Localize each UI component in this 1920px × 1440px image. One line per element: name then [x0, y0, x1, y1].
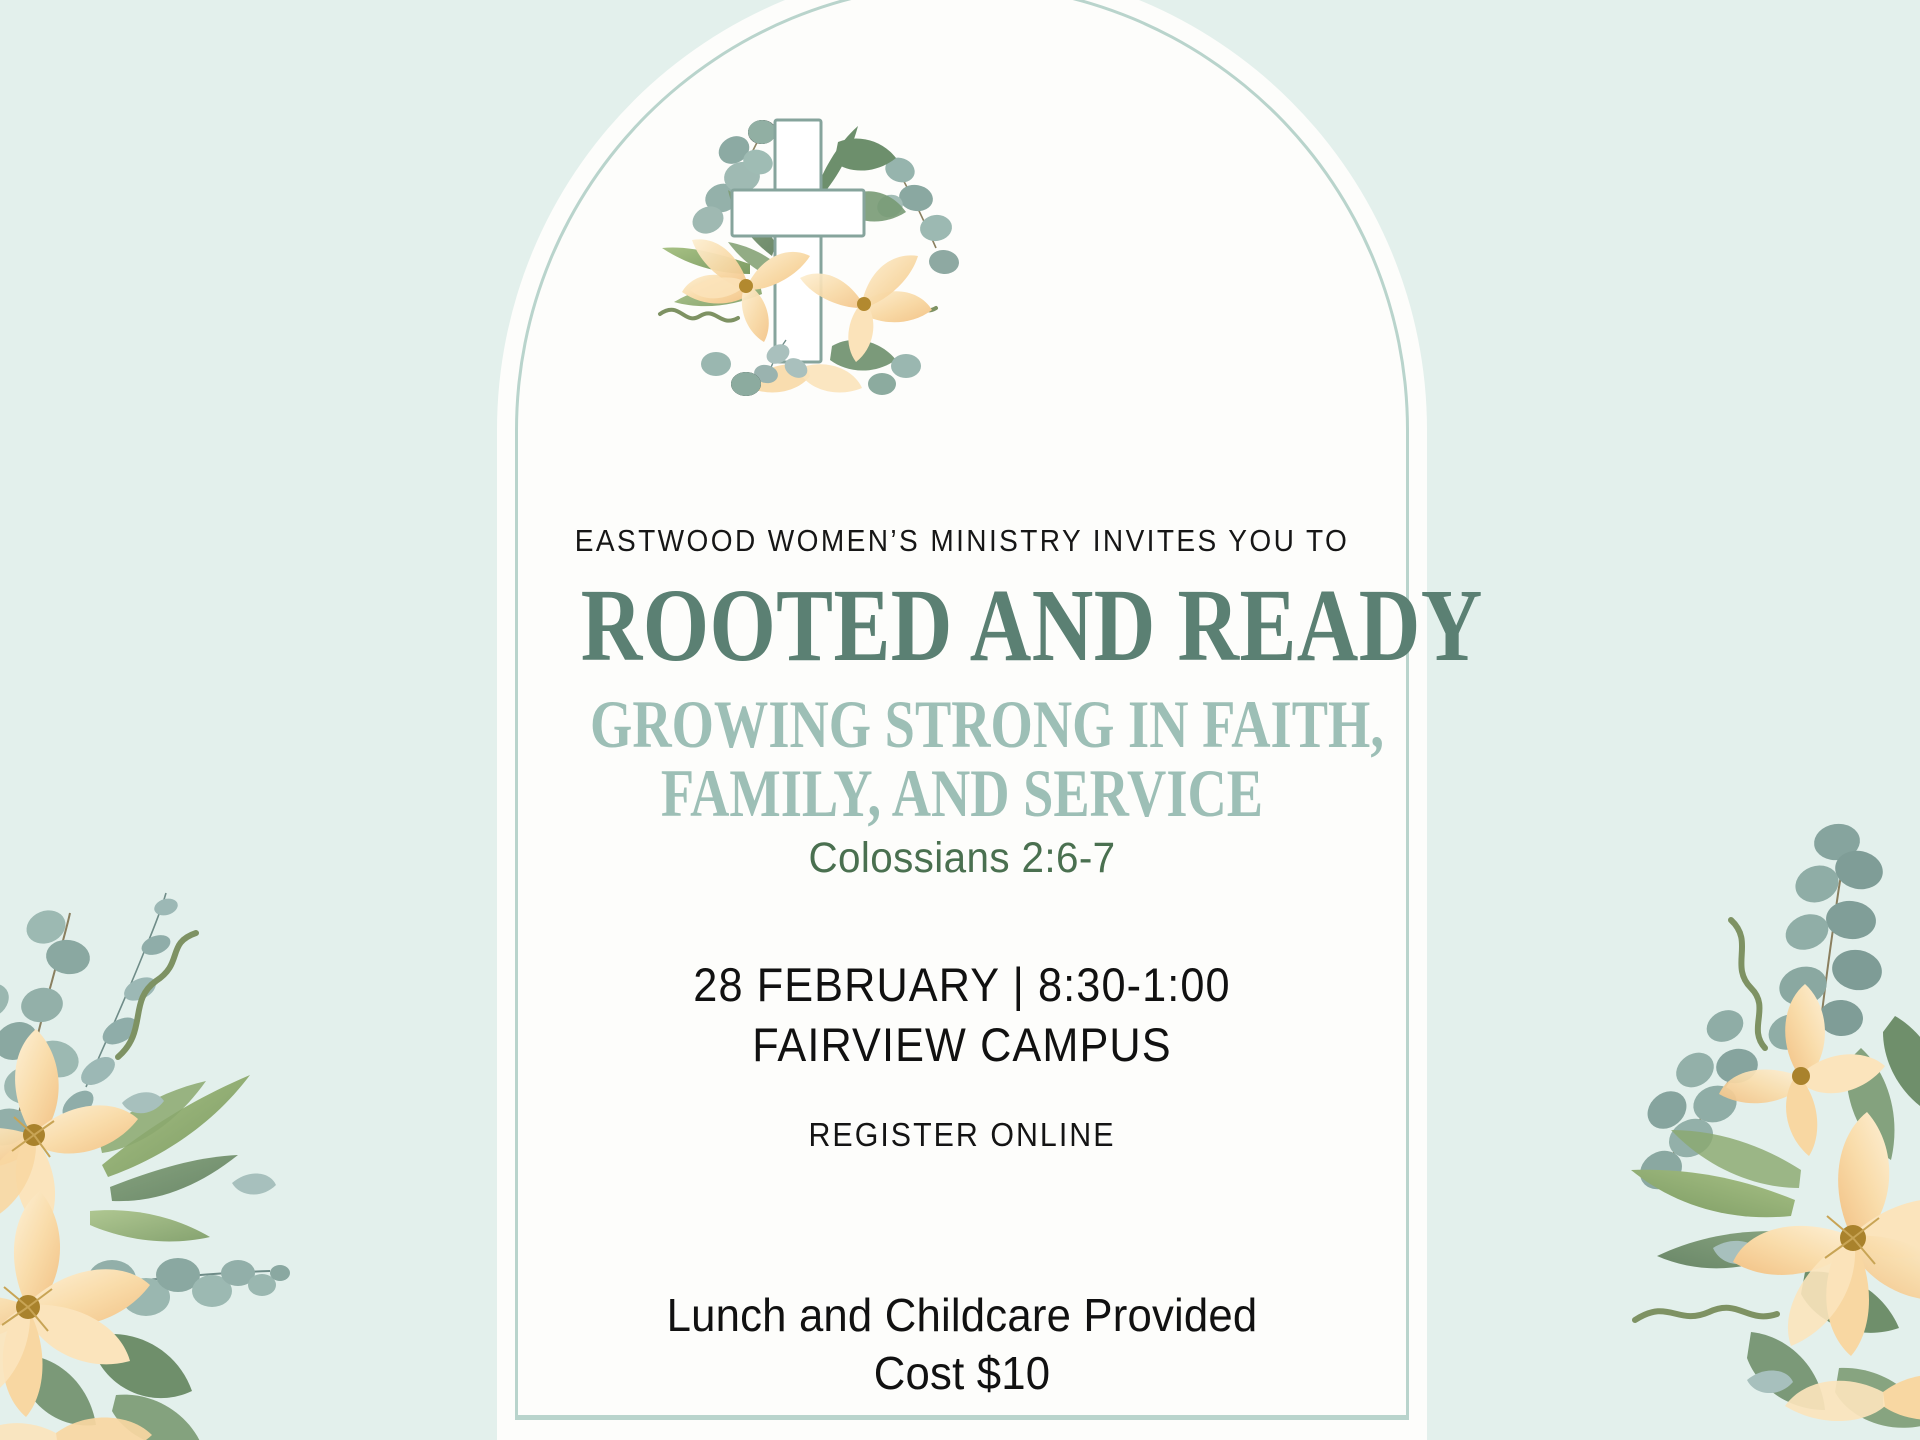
- kicker-text: EASTWOOD WOMEN’S MINISTRY INVITES YOU TO: [534, 524, 1390, 559]
- tagline-text: GROWING STRONG IN FAITH, FAMILY, AND SER…: [590, 690, 1334, 829]
- scripture-reference: Colossians 2:6-7: [525, 834, 1399, 883]
- tagline-line-2: FAMILY, AND SERVICE: [590, 759, 1334, 828]
- leaf-cluster: [90, 1075, 250, 1241]
- watercolor-floral-corner-left: [0, 835, 370, 1440]
- tendril: [660, 310, 738, 321]
- footer-line-1: Lunch and Childcare Provided: [667, 1289, 1258, 1341]
- eucalyptus-sprig: [57, 893, 180, 1125]
- footer-line-2: Cost $10: [520, 1345, 1404, 1403]
- tendril: [1635, 1308, 1777, 1320]
- poster-canvas: EASTWOOD WOMEN’S MINISTRY INVITES YOU TO…: [0, 0, 1920, 1440]
- page-title: ROOTED AND READY: [581, 574, 1344, 678]
- event-date-time: 28 FEBRUARY | 8:30-1:00: [693, 958, 1230, 1011]
- register-call-to-action[interactable]: REGISTER ONLINE: [534, 1116, 1390, 1154]
- event-details: 28 FEBRUARY | 8:30-1:00 FAIRVIEW CAMPUS: [534, 955, 1390, 1075]
- cross-floral-arrangement-icon: [600, 78, 1000, 408]
- watercolor-floral-corner-right: [1565, 820, 1920, 1440]
- tagline-line-1: GROWING STRONG IN FAITH,: [590, 686, 1384, 762]
- event-location: FAIRVIEW CAMPUS: [534, 1015, 1390, 1075]
- footer-details: Lunch and Childcare Provided Cost $10: [520, 1287, 1404, 1403]
